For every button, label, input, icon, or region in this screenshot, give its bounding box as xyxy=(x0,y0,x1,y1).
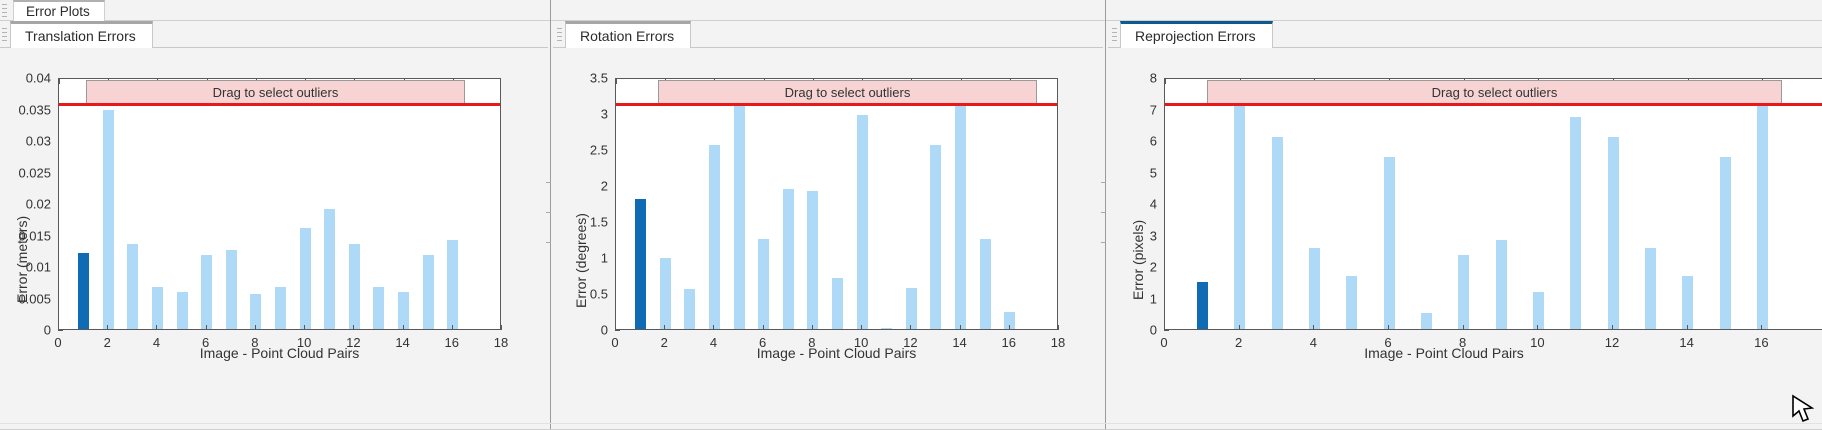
bar[interactable] xyxy=(660,258,671,329)
xtick-mark xyxy=(501,325,502,330)
xtick-label: 16 xyxy=(1754,335,1768,350)
bar[interactable] xyxy=(373,287,384,329)
bar[interactable] xyxy=(1004,312,1015,329)
chart-2-plot-area[interactable]: Drag to select outliers xyxy=(615,78,1058,330)
xtick-mark xyxy=(107,325,108,330)
bar[interactable] xyxy=(250,294,261,329)
xtick-mark xyxy=(1537,325,1538,330)
xtick-mark xyxy=(615,325,616,330)
xtick-mark xyxy=(353,325,354,330)
bar[interactable] xyxy=(1234,97,1245,329)
bar[interactable] xyxy=(1458,255,1469,329)
bar[interactable] xyxy=(1421,313,1432,329)
ytick-label: 0.5 xyxy=(548,287,608,302)
tab-rotation-errors[interactable]: Rotation Errors xyxy=(565,21,691,48)
bar[interactable] xyxy=(1533,292,1544,329)
ytick-label: 0 xyxy=(1097,323,1157,338)
tab-translation-errors-label: Translation Errors xyxy=(25,29,136,43)
bar[interactable] xyxy=(103,110,114,329)
bar[interactable] xyxy=(324,209,335,329)
ytick-label: 0.03 xyxy=(0,134,51,149)
bar[interactable] xyxy=(1384,157,1395,329)
xtick-mark xyxy=(206,325,207,330)
ytick-label: 3 xyxy=(1097,228,1157,243)
document-tab-error-plots[interactable]: Error Plots xyxy=(13,0,105,21)
bar[interactable] xyxy=(857,115,868,329)
xtick-mark xyxy=(1687,325,1688,330)
xtick-mark xyxy=(255,325,256,330)
xtick-mark xyxy=(1761,325,1762,330)
xtick-mark xyxy=(403,325,404,330)
ytick-label: 6 xyxy=(1097,134,1157,149)
xtick-mark xyxy=(1463,325,1464,330)
bar[interactable] xyxy=(807,191,818,329)
chart-1-outlier-band-label: Drag to select outliers xyxy=(213,85,339,100)
chart-1-bars xyxy=(59,79,500,329)
bar[interactable] xyxy=(1346,276,1357,329)
bar[interactable] xyxy=(684,289,695,329)
chart-2-outlier-band-label: Drag to select outliers xyxy=(785,85,911,100)
resize-cursor-icon xyxy=(1790,394,1820,428)
tab-translation-errors[interactable]: Translation Errors xyxy=(10,21,153,48)
bar[interactable] xyxy=(1309,248,1320,329)
ytick-mark xyxy=(58,330,63,331)
bar[interactable] xyxy=(1197,282,1208,329)
bar[interactable] xyxy=(1272,137,1283,329)
document-tab-grip-icon[interactable] xyxy=(2,4,7,17)
ytick-label: 0.015 xyxy=(0,228,51,243)
bar[interactable] xyxy=(709,145,720,329)
bar[interactable] xyxy=(398,292,409,329)
ytick-label: 2.5 xyxy=(548,143,608,158)
ytick-label: 7 xyxy=(1097,102,1157,117)
ytick-mark xyxy=(1164,330,1169,331)
chart-2-outlier-band[interactable]: Drag to select outliers xyxy=(658,80,1037,105)
ytick-label: 3 xyxy=(548,107,608,122)
bar[interactable] xyxy=(734,96,745,329)
xtick-mark xyxy=(1009,325,1010,330)
panel-tab-grip-icon[interactable] xyxy=(1112,28,1117,41)
panel-tabstrip-translation: Translation Errors xyxy=(0,21,548,48)
ytick-mark xyxy=(615,330,620,331)
ytick-label: 0 xyxy=(548,323,608,338)
bar[interactable] xyxy=(980,239,991,329)
bar[interactable] xyxy=(1570,117,1581,329)
bar[interactable] xyxy=(300,228,311,329)
ytick-label: 0 xyxy=(0,323,51,338)
bar[interactable] xyxy=(447,240,458,329)
xtick-mark-top xyxy=(616,79,617,84)
chart-3-bars xyxy=(1165,79,1822,329)
ytick-label: 4 xyxy=(1097,197,1157,212)
bar[interactable] xyxy=(349,244,360,329)
bar[interactable] xyxy=(1608,137,1619,329)
ytick-label: 0.01 xyxy=(0,260,51,275)
bar[interactable] xyxy=(635,199,646,329)
chart-3-outlier-band-label: Drag to select outliers xyxy=(1432,85,1558,100)
ytick-label: 2 xyxy=(548,179,608,194)
bar[interactable] xyxy=(881,328,892,329)
chart-3-outlier-band[interactable]: Drag to select outliers xyxy=(1207,80,1782,105)
ytick-label: 1.5 xyxy=(548,215,608,230)
panel-rotation-errors: Error (degrees) 00.511.522.533.5 Drag to… xyxy=(553,48,1103,430)
chart-3-xlabel: Image - Point Cloud Pairs xyxy=(1164,345,1724,361)
bar[interactable] xyxy=(78,253,89,329)
ytick-label: 0.005 xyxy=(0,291,51,306)
bar[interactable] xyxy=(1720,157,1731,329)
bar[interactable] xyxy=(1757,104,1768,329)
ytick-label: 1 xyxy=(548,251,608,266)
ytick-label: 8 xyxy=(1097,71,1157,86)
bar[interactable] xyxy=(906,288,917,329)
xtick-mark xyxy=(812,325,813,330)
ytick-label: 0.035 xyxy=(0,102,51,117)
xtick-mark xyxy=(1612,325,1613,330)
bar[interactable] xyxy=(423,255,434,329)
bar[interactable] xyxy=(226,250,237,329)
xtick-mark xyxy=(713,325,714,330)
xtick-mark xyxy=(910,325,911,330)
bar[interactable] xyxy=(1682,276,1693,329)
panel-tabstrip-reprojection: Reprojection Errors xyxy=(1108,21,1822,48)
tab-reprojection-errors[interactable]: Reprojection Errors xyxy=(1120,21,1273,48)
bar[interactable] xyxy=(275,287,286,329)
xtick-mark xyxy=(1313,325,1314,330)
xtick-mark-top xyxy=(1165,79,1166,84)
bar[interactable] xyxy=(177,292,188,329)
chart-3-plot-area[interactable]: Drag to select outliers xyxy=(1164,78,1822,330)
xtick-mark xyxy=(1058,325,1059,330)
panel-tab-grip-icon[interactable] xyxy=(557,28,562,41)
bar[interactable] xyxy=(832,278,843,329)
chart-1-outlier-band[interactable]: Drag to select outliers xyxy=(86,80,465,105)
chart-2-bars xyxy=(616,79,1057,329)
xtick-mark xyxy=(1388,325,1389,330)
ytick-label: 2 xyxy=(1097,260,1157,275)
document-tab-label: Error Plots xyxy=(26,5,90,19)
status-divider-upper xyxy=(0,423,1822,424)
chart-1-threshold-line[interactable] xyxy=(59,103,501,106)
bar[interactable] xyxy=(930,145,941,329)
xtick-mark xyxy=(1239,325,1240,330)
chart-3-threshold-line[interactable] xyxy=(1165,103,1822,106)
bar[interactable] xyxy=(758,239,769,329)
tab-rotation-errors-label: Rotation Errors xyxy=(580,29,674,43)
bar[interactable] xyxy=(1645,248,1656,329)
document-tabstrip: Error Plots xyxy=(0,0,1822,21)
bar[interactable] xyxy=(783,189,794,329)
xtick-mark xyxy=(304,325,305,330)
ytick-label: 3.5 xyxy=(548,71,608,86)
xtick-mark xyxy=(58,325,59,330)
xtick-mark xyxy=(452,325,453,330)
chart-1-plot-area[interactable]: Drag to select outliers xyxy=(58,78,501,330)
ytick-label: 0.04 xyxy=(0,71,51,86)
panel-reprojection-errors: Error (pixels) 012345678 Drag to select … xyxy=(1108,48,1822,430)
xtick-mark xyxy=(664,325,665,330)
tab-reprojection-errors-label: Reprojection Errors xyxy=(1135,29,1256,43)
bar[interactable] xyxy=(955,96,966,329)
ytick-label: 5 xyxy=(1097,165,1157,180)
bar[interactable] xyxy=(1496,240,1507,329)
chart-2-threshold-line[interactable] xyxy=(616,103,1058,106)
panel-translation-errors: Error (meters) 00.0050.010.0150.020.0250… xyxy=(0,48,548,430)
ytick-label: 1 xyxy=(1097,291,1157,306)
bar[interactable] xyxy=(127,244,138,329)
chart-2-xlabel: Image - Point Cloud Pairs xyxy=(615,345,1058,361)
panel-tab-grip-icon[interactable] xyxy=(2,28,7,41)
xtick-mark-top xyxy=(59,79,60,84)
xtick-mark xyxy=(960,325,961,330)
chart-1-xlabel: Image - Point Cloud Pairs xyxy=(58,345,501,361)
panel-tabstrip-rotation: Rotation Errors xyxy=(553,21,1103,48)
xtick-mark xyxy=(156,325,157,330)
xtick-mark xyxy=(763,325,764,330)
bar[interactable] xyxy=(201,255,212,329)
error-plots-window: Error Plots Translation Errors Error (me… xyxy=(0,0,1822,430)
xtick-mark xyxy=(1164,325,1165,330)
ytick-label: 0.02 xyxy=(0,197,51,212)
ytick-label: 0.025 xyxy=(0,165,51,180)
xtick-mark xyxy=(861,325,862,330)
bar[interactable] xyxy=(152,287,163,329)
